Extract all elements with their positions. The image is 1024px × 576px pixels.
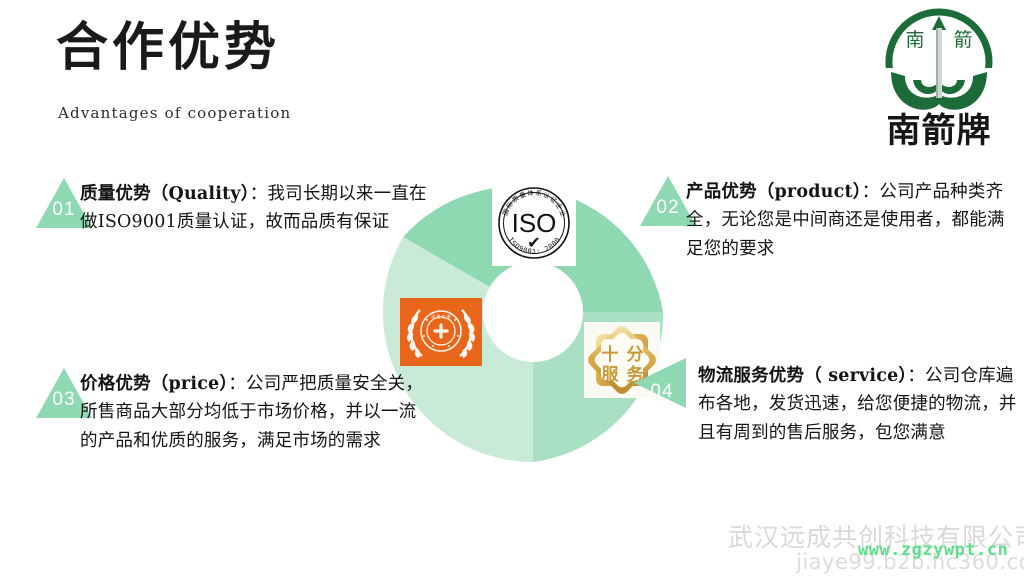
- iso-badge-icon: ISO ✔ 国际质量体系认证企业 ISO9001: 2000: [492, 180, 576, 266]
- watermark-site-url: www.zgzywpt.cn: [858, 540, 1008, 560]
- nanjian-emblem-icon: 南 箭: [879, 6, 999, 118]
- item-heading-01: 质量优势（Quality）: [80, 184, 250, 204]
- item-heading-03: 价格优势（price）: [80, 374, 228, 394]
- page-subtitle: Advantages of cooperation: [58, 104, 291, 122]
- brand-name: 南箭牌: [874, 114, 1004, 148]
- item-heading-02: 产品优势（product）: [686, 182, 862, 202]
- item-heading-04: 物流服务优势（ service）: [698, 366, 907, 386]
- item-text-01: 质量优势（Quality）：我司长期以来一直在做ISO9001质量认证，故而品质…: [80, 180, 428, 237]
- page-title: 合作优势: [56, 18, 280, 78]
- item-text-04: 物流服务优势（ service）：公司仓库遍布各地，发货迅速，给您便捷的物流，并…: [698, 362, 1018, 447]
- service-badge-line1-a: 十: [602, 344, 619, 365]
- iso-certification-badge: ISO ✔ 国际质量体系认证企业 ISO9001: 2000: [492, 180, 576, 266]
- logo-char-left: 南: [905, 29, 924, 51]
- item-text-02: 产品优势（product）：公司产品种类齐全，无论您是中间商还是使用者，都能满足…: [686, 178, 1011, 263]
- slide-root: 合作优势 Advantages of cooperation 南 箭 南箭牌: [0, 0, 1024, 576]
- item-badge-04[interactable]: 04: [630, 356, 690, 410]
- brand-logo: 南 箭 南箭牌: [874, 6, 1004, 161]
- quality-seal-icon: 质 量 信 誉: [400, 298, 482, 366]
- item-text-03: 价格优势（price）：公司严把质量安全关，所售商品大部分均低于市场价格，并以一…: [80, 370, 432, 455]
- item-number-03: 03: [52, 389, 75, 420]
- quality-seal-badge: 质 量 信 誉: [400, 298, 482, 366]
- service-badge-line2-a: 服: [602, 365, 620, 385]
- donut-hole: [483, 262, 583, 362]
- logo-char-right: 箭: [953, 29, 972, 51]
- svg-text:质 量 信 誉: 质 量 信 誉: [431, 313, 451, 319]
- item-number-02: 02: [656, 197, 679, 228]
- item-number-04: 04: [646, 381, 673, 410]
- item-number-01: 01: [52, 199, 75, 230]
